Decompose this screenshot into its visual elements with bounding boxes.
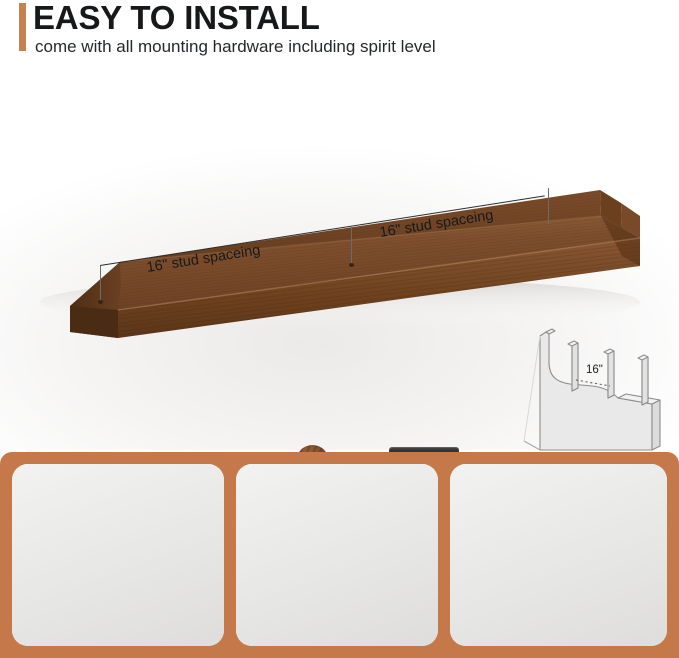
screw-hole-mid bbox=[349, 263, 354, 267]
install-steps-strip bbox=[0, 452, 679, 658]
accent-bar bbox=[19, 3, 26, 51]
header: EASY TO INSTALL come with all mounting h… bbox=[0, 0, 679, 70]
page-title: EASY TO INSTALL bbox=[33, 0, 320, 37]
page-subtitle: come with all mounting hardware includin… bbox=[35, 36, 436, 57]
hero-section: 16" stud spaceing 16" stud spaceing bbox=[0, 70, 679, 450]
wall-stud-svg: 16" bbox=[500, 318, 675, 463]
callout-tick-right bbox=[548, 188, 549, 224]
callout-tick-mid bbox=[351, 227, 352, 265]
callout-tick-left bbox=[100, 266, 101, 302]
install-step-photo-1 bbox=[12, 464, 224, 646]
wall-stud-diagram: 16" bbox=[500, 318, 675, 463]
product-infographic: EASY TO INSTALL come with all mounting h… bbox=[0, 0, 679, 658]
install-step-photo-3 bbox=[450, 464, 667, 646]
install-step-photo-2 bbox=[236, 464, 438, 646]
screw-hole-left bbox=[98, 300, 103, 304]
stud-measure-label: 16" bbox=[586, 364, 603, 376]
